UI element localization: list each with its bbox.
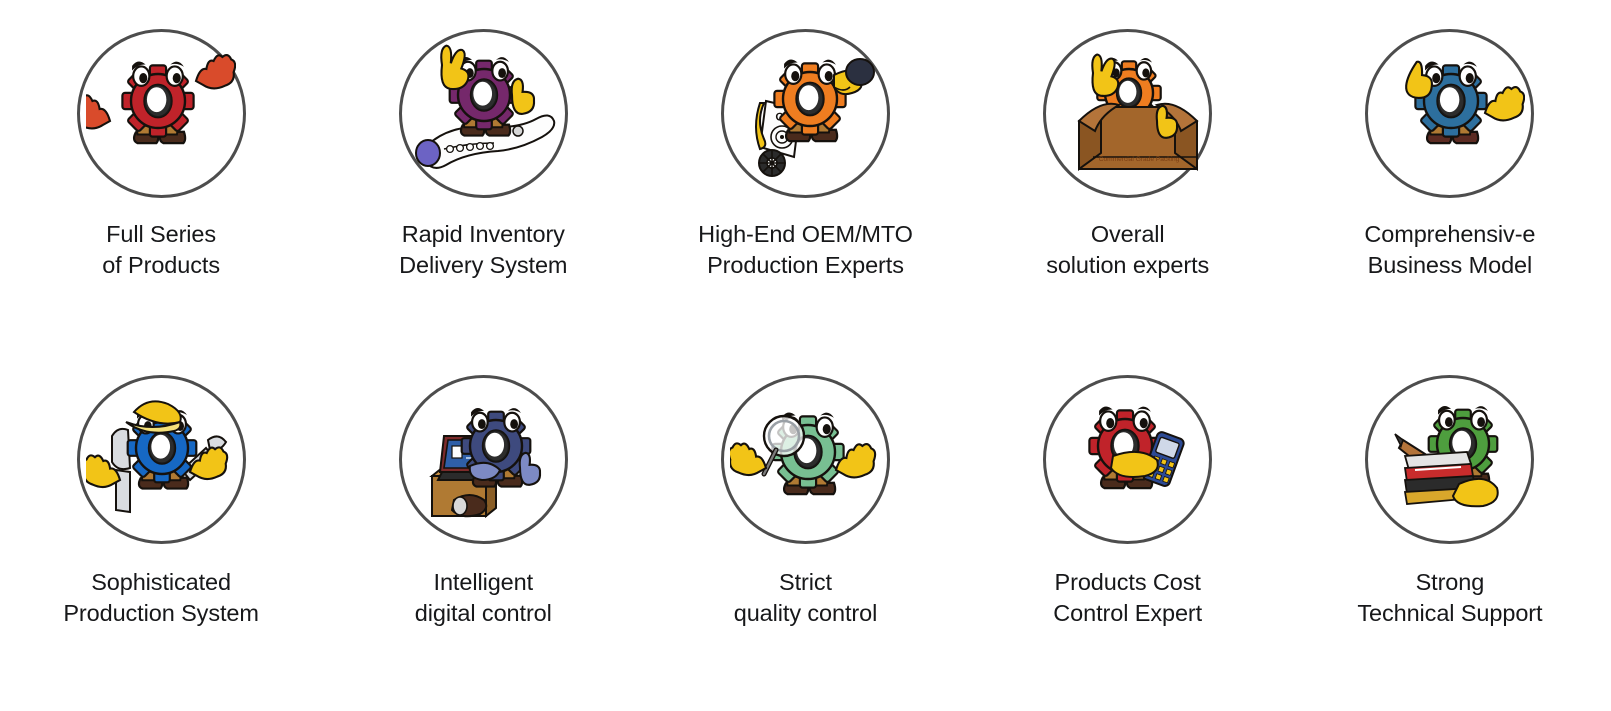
feature-card-overall-solution-experts[interactable]: Commercial Grade PackingOverallsolution …	[967, 0, 1289, 281]
caption-line-2: Delivery System	[399, 250, 567, 281]
caption-line-2: digital control	[415, 598, 552, 629]
purple-gear-mascot-airplane-icon	[408, 39, 558, 189]
caption-line-1: High-End OEM/MTO	[698, 219, 913, 250]
caption-line-2: Control Expert	[1053, 598, 1202, 629]
feature-card-strong-technical-support[interactable]: StrongTechnical Support	[1289, 356, 1611, 629]
caption-line-1: Full Series	[102, 219, 220, 250]
caption-line-2: Technical Support	[1357, 598, 1542, 629]
feature-caption-overall-solution-experts: Overallsolution experts	[1046, 219, 1209, 281]
caption-line-1: Intelligent	[415, 567, 552, 598]
caption-line-2: quality control	[734, 598, 878, 629]
feature-caption-strict-quality-control: Strictquality control	[734, 567, 878, 629]
feature-badge-grid: Full Seriesof ProductsRapid InventoryDel…	[0, 0, 1611, 711]
feature-card-full-series-of-products[interactable]: Full Seriesof Products	[0, 0, 322, 281]
orange-gear-mascot-in-carton-box-icon: Commercial Grade Packing	[1053, 39, 1203, 189]
orange-gear-mascot-blueprint-icon: OEM	[730, 39, 880, 189]
feature-caption-rapid-inventory-delivery-system: Rapid InventoryDelivery System	[399, 219, 567, 281]
badge-circle-strong-technical-support[interactable]	[1365, 375, 1534, 544]
caption-line-1: Rapid Inventory	[399, 219, 567, 250]
badge-circle-sophisticated-production-system[interactable]	[77, 375, 246, 544]
feature-caption-intelligent-digital-control: Intelligentdigital control	[415, 567, 552, 629]
feature-caption-full-series-of-products: Full Seriesof Products	[102, 219, 220, 281]
badge-circle-comprehensive-business-model[interactable]	[1365, 29, 1534, 198]
caption-line-1: Products Cost	[1053, 567, 1202, 598]
caption-line-1: Overall	[1046, 219, 1209, 250]
svg-text:Commercial Grade Packing: Commercial Grade Packing	[1098, 156, 1179, 163]
green-gear-mascot-with-magnifier-icon	[730, 384, 880, 534]
caption-line-2: solution experts	[1046, 250, 1209, 281]
feature-card-rapid-inventory-delivery-system[interactable]: Rapid InventoryDelivery System	[322, 0, 644, 281]
feature-card-strict-quality-control[interactable]: Strictquality control	[644, 356, 966, 629]
badge-circle-intelligent-digital-control[interactable]	[399, 375, 568, 544]
feature-card-intelligent-digital-control[interactable]: Intelligentdigital control	[322, 356, 644, 629]
feature-card-sophisticated-production-system[interactable]: SophisticatedProduction System	[0, 356, 322, 629]
badge-circle-products-cost-control-expert[interactable]	[1043, 375, 1212, 544]
red-gear-mascot-with-calculator-icon	[1053, 384, 1203, 534]
red-gear-mascot-waving-icon	[86, 39, 236, 189]
caption-line-2: of Products	[102, 250, 220, 281]
caption-line-2: Production Experts	[698, 250, 913, 281]
blue-gear-mascot-with-wrenches-icon	[86, 384, 236, 534]
badge-circle-full-series-of-products[interactable]	[77, 29, 246, 198]
feature-caption-products-cost-control-expert: Products CostControl Expert	[1053, 567, 1202, 629]
feature-card-products-cost-control-expert[interactable]: Products CostControl Expert	[967, 356, 1289, 629]
feature-caption-strong-technical-support: StrongTechnical Support	[1357, 567, 1542, 629]
caption-line-2: Business Model	[1364, 250, 1535, 281]
caption-line-2: Production System	[63, 598, 259, 629]
badge-circle-rapid-inventory-delivery-system[interactable]	[399, 29, 568, 198]
caption-line-1: Strong	[1357, 567, 1542, 598]
feature-caption-comprehensive-business-model: Comprehensiv-eBusiness Model	[1364, 219, 1535, 281]
navy-gear-mascot-with-laptop-icon	[408, 384, 558, 534]
feature-card-high-end-oem-mto-production-experts[interactable]: OEMHigh-End OEM/MTOProduction Experts	[644, 0, 966, 281]
caption-line-1: Strict	[734, 567, 878, 598]
badge-circle-high-end-oem-mto-production-experts[interactable]: OEM	[721, 29, 890, 198]
badge-circle-overall-solution-experts[interactable]: Commercial Grade Packing	[1043, 29, 1212, 198]
caption-line-1: Sophisticated	[63, 567, 259, 598]
feature-caption-sophisticated-production-system: SophisticatedProduction System	[63, 567, 259, 629]
feature-caption-high-end-oem-mto-production-experts: High-End OEM/MTOProduction Experts	[698, 219, 913, 281]
badge-circle-strict-quality-control[interactable]	[721, 375, 890, 544]
blue-gear-mascot-pointing-up-icon	[1375, 39, 1525, 189]
feature-card-comprehensive-business-model[interactable]: Comprehensiv-eBusiness Model	[1289, 0, 1611, 281]
caption-line-1: Comprehensiv-e	[1364, 219, 1535, 250]
green-gear-mascot-carrying-books-icon	[1375, 384, 1525, 534]
